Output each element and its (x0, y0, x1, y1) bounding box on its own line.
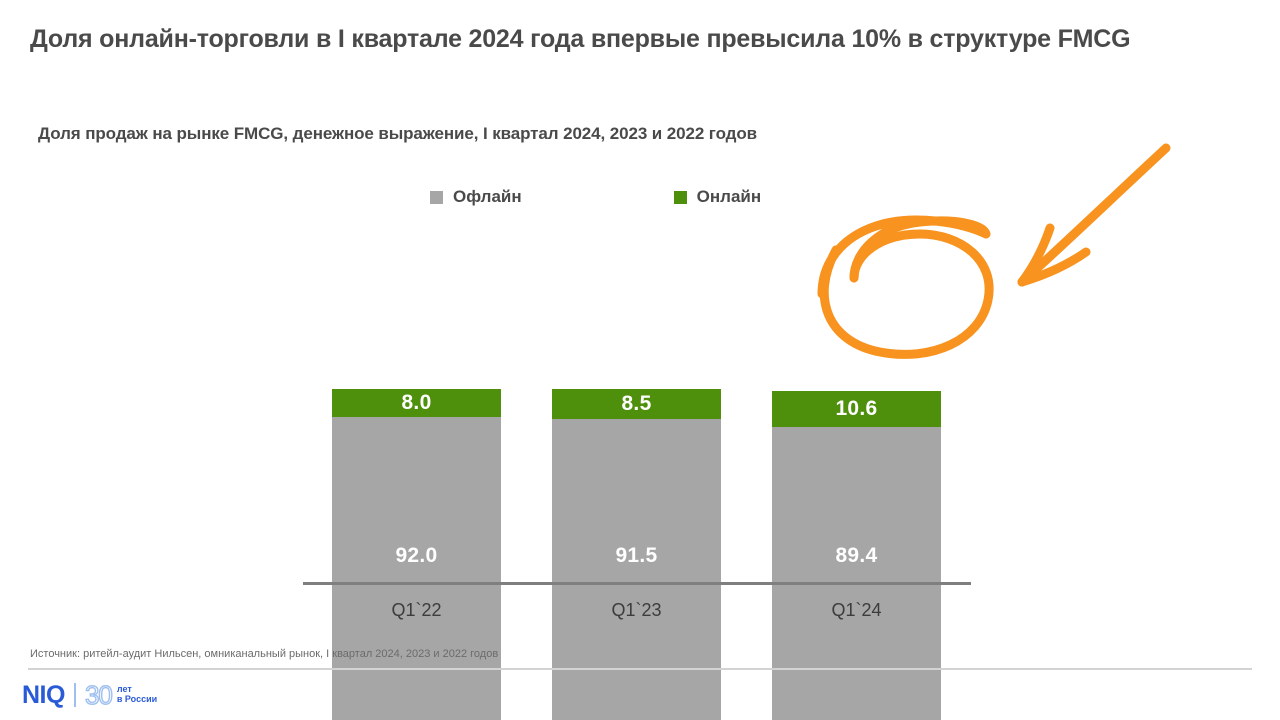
niq-logo: NIQ 30 лет в России (22, 682, 157, 708)
logo-divider (74, 683, 76, 707)
annotation-arrow-shaft-icon (1022, 148, 1166, 282)
bar-value-offline-2: 89.4 (835, 544, 877, 568)
bar-segment-offline-0[interactable]: 92.0 (332, 417, 501, 720)
legend-item-online[interactable]: Онлайн (674, 187, 761, 207)
bar-segment-online-0[interactable]: 8.0 (332, 389, 501, 417)
x-axis-label-2: Q1`24 (772, 600, 941, 621)
bar-segment-offline-2[interactable]: 89.4 (772, 427, 941, 720)
bar-segment-online-1[interactable]: 8.5 (552, 389, 721, 419)
legend-item-offline[interactable]: Офлайн (430, 187, 522, 207)
anniversary-caption: лет в России (117, 685, 157, 704)
bar-group-1[interactable]: 8.5 91.5 (552, 389, 721, 720)
anniversary-number: 30 (85, 682, 112, 708)
handdrawn-annotation (780, 130, 1200, 380)
footer-divider (28, 668, 1252, 670)
bar-group-2[interactable]: 10.6 89.4 (772, 391, 941, 720)
bar-value-online-0: 8.0 (401, 391, 431, 415)
legend-label-offline: Офлайн (453, 187, 522, 207)
anniversary-lockup: 30 лет в России (85, 682, 157, 708)
x-axis-label-0: Q1`22 (332, 600, 501, 621)
source-note: Источник: ритейл-аудит Нильсен, омникана… (30, 648, 498, 660)
bar-segment-online-2[interactable]: 10.6 (772, 391, 941, 427)
legend-label-online: Онлайн (697, 187, 761, 207)
legend-swatch-online (674, 191, 687, 204)
chart-plot-area: 8.0 92.0 8.5 91.5 10.6 89.4 Q1`22 (0, 0, 1280, 720)
bar-segment-offline-1[interactable]: 91.5 (552, 419, 721, 720)
slide-canvas: Доля онлайн-торговли в I квартале 2024 г… (0, 0, 1280, 720)
legend-swatch-offline (430, 191, 443, 204)
page-title: Доля онлайн-торговли в I квартале 2024 г… (30, 24, 1250, 54)
niq-wordmark: NIQ (22, 683, 65, 708)
bar-group-0[interactable]: 8.0 92.0 (332, 389, 501, 720)
x-axis-line (303, 582, 971, 585)
bar-value-online-2: 10.6 (835, 397, 877, 421)
bar-value-offline-1: 91.5 (615, 544, 657, 568)
bar-value-offline-0: 92.0 (395, 544, 437, 568)
chart-subtitle: Доля продаж на рынке FMCG, денежное выра… (38, 124, 757, 144)
anniversary-caption-line2: в России (117, 695, 157, 705)
annotation-arrowhead-barb-lower-icon (1022, 252, 1086, 282)
annotation-circle-icon (824, 234, 989, 354)
annotation-arrowhead-barb-upper-icon (1022, 228, 1050, 282)
chart-legend: Офлайн Онлайн (430, 187, 761, 207)
annotation-spiral-icon (822, 220, 986, 294)
x-axis-label-1: Q1`23 (552, 600, 721, 621)
bar-value-online-1: 8.5 (621, 392, 651, 416)
